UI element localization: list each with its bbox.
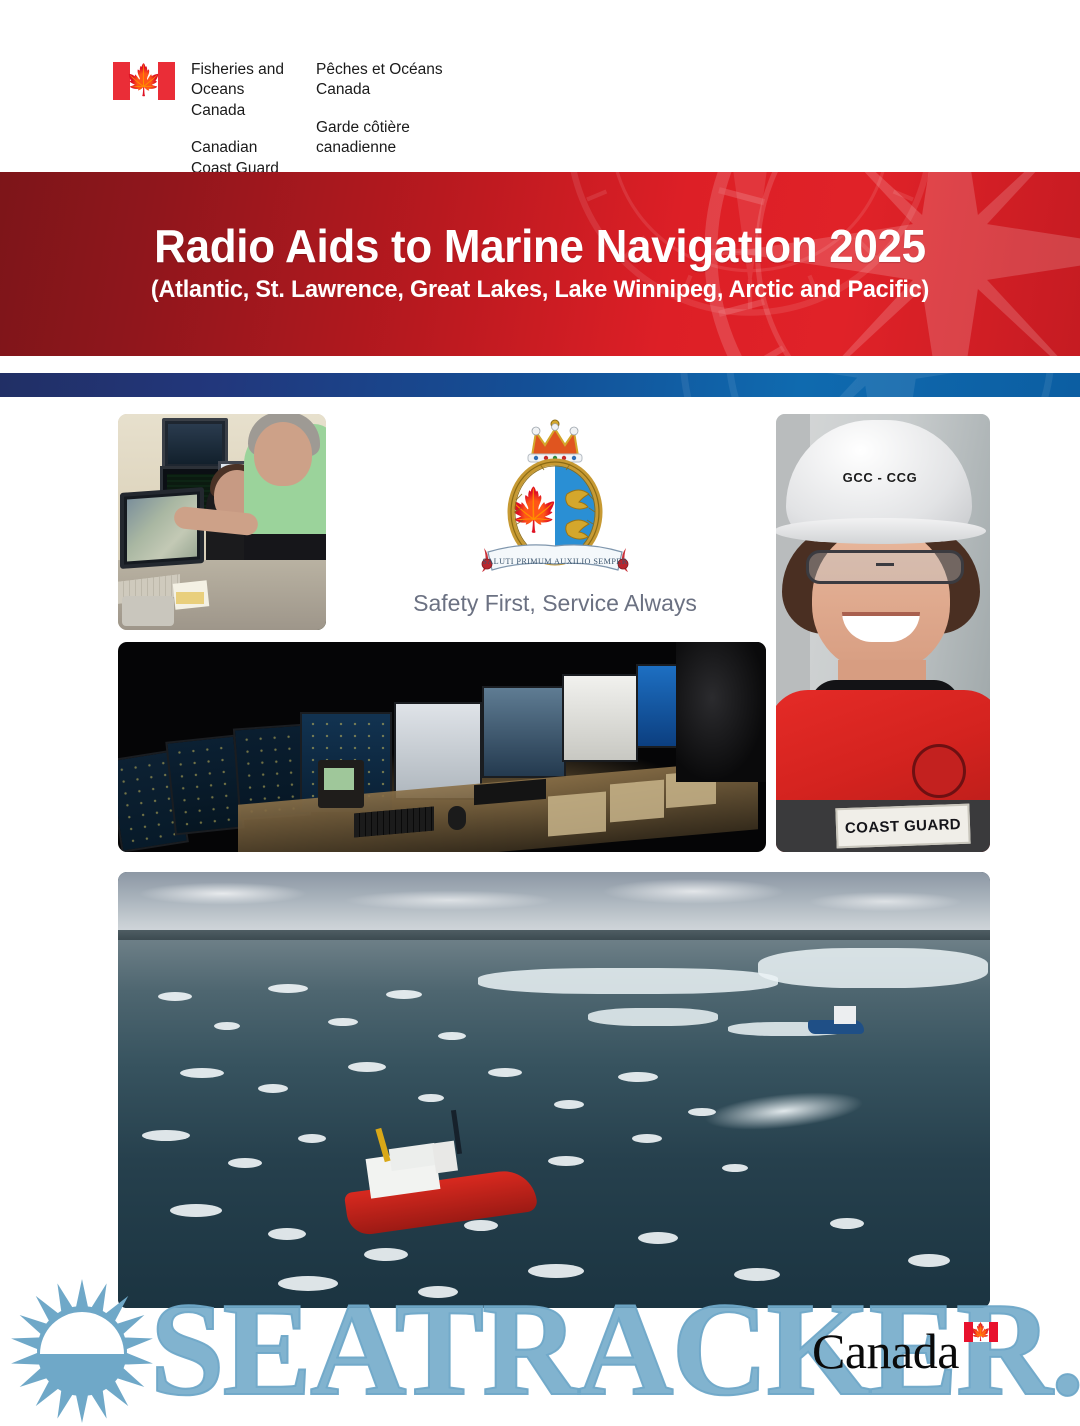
dept-fr-line2: Canada [316, 80, 506, 100]
dept-en-line1: Fisheries and Oceans [191, 60, 316, 101]
photo-coast-guard-member: GCC - CCG COAST GUARD [776, 414, 990, 852]
dept-fr-line1: Pêches et Océans [316, 60, 506, 80]
canada-flag-icon: 🍁 [113, 62, 175, 100]
compass-rose-stripe-icon [660, 373, 1080, 397]
safety-glasses [806, 550, 964, 584]
royal-crown-icon [528, 420, 582, 462]
photo-icebreaker-aerial [118, 872, 990, 1308]
blue-accent-stripe [0, 373, 1080, 397]
small-vessel [808, 1000, 864, 1034]
crest-motto-scroll: SALUTI PRIMUM AUXILIO SEMPER [482, 545, 628, 572]
coast-guard-name-patch: COAST GUARD [835, 804, 970, 849]
ccg-motto: Safety First, Service Always [350, 590, 760, 617]
ccg-en-line1: Canadian [191, 138, 316, 158]
ccg-fr-line1: Garde côtière [316, 118, 506, 138]
crest-motto-text: SALUTI PRIMUM AUXILIO SEMPER [482, 557, 627, 566]
helmet-text: GCC - CCG [820, 470, 940, 485]
wordmark-english-column: Fisheries and Oceans Canada Canadian Coa… [191, 60, 316, 179]
photo-operations-centre [118, 642, 766, 852]
canada-wordmark: Canada 🍁 [812, 1326, 1012, 1388]
photo-mcts-operators [118, 414, 326, 630]
federal-identity-wordmark: 🍁 Fisheries and Oceans Canada Canadian C… [113, 60, 633, 160]
page-subtitle: (Atlantic, St. Lawrence, Great Lakes, La… [24, 276, 1055, 304]
title-banner: Radio Aids to Marine Navigation 2025 (At… [0, 172, 1080, 356]
canada-flag-icon: 🍁 [964, 1322, 998, 1342]
page-title: Radio Aids to Marine Navigation 2025 [24, 222, 1055, 270]
canadian-coast-guard-crest: 🍁 SALUTI PRIMUM AUXILIO SEMPER [470, 412, 640, 582]
wordmark-french-column: Pêches et Océans Canada Garde côtière ca… [316, 60, 506, 179]
coast-guard-icebreaker [346, 1138, 536, 1224]
jacket-badge [912, 744, 966, 798]
dept-en-line2: Canada [191, 101, 316, 121]
ccg-fr-line2: canadienne [316, 138, 506, 158]
patch-text: COAST GUARD [845, 815, 962, 836]
